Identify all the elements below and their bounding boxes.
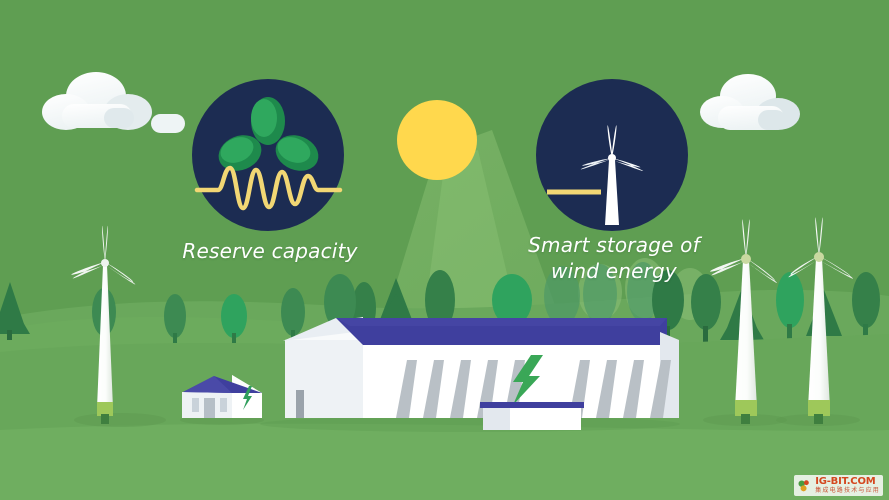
watermark-domain: IG-BIT.COM	[815, 477, 880, 487]
badge-reserve-capacity-circle	[192, 79, 344, 231]
battery-container	[480, 402, 584, 430]
sun-icon	[397, 100, 477, 180]
watermark-subtitle: 集成电路技术与应用	[815, 488, 880, 494]
watermark-logo-icon	[797, 478, 812, 493]
illustration-canvas: Reserve capacity Smart storage of wind e…	[0, 0, 889, 500]
energy-storage-warehouse	[260, 317, 680, 432]
badge-label-reserve-capacity: Reserve capacity	[175, 238, 365, 264]
watermark: IG-BIT.COM 集成电路技术与应用	[794, 475, 883, 496]
cloud-left-small	[151, 114, 185, 133]
badge-label-smart-storage: Smart storage of wind energy	[514, 232, 714, 284]
cloud-small-icon	[151, 114, 185, 133]
badge-smart-storage-circle	[536, 79, 688, 231]
scene-illustration	[0, 0, 889, 500]
ground-front	[0, 424, 889, 500]
